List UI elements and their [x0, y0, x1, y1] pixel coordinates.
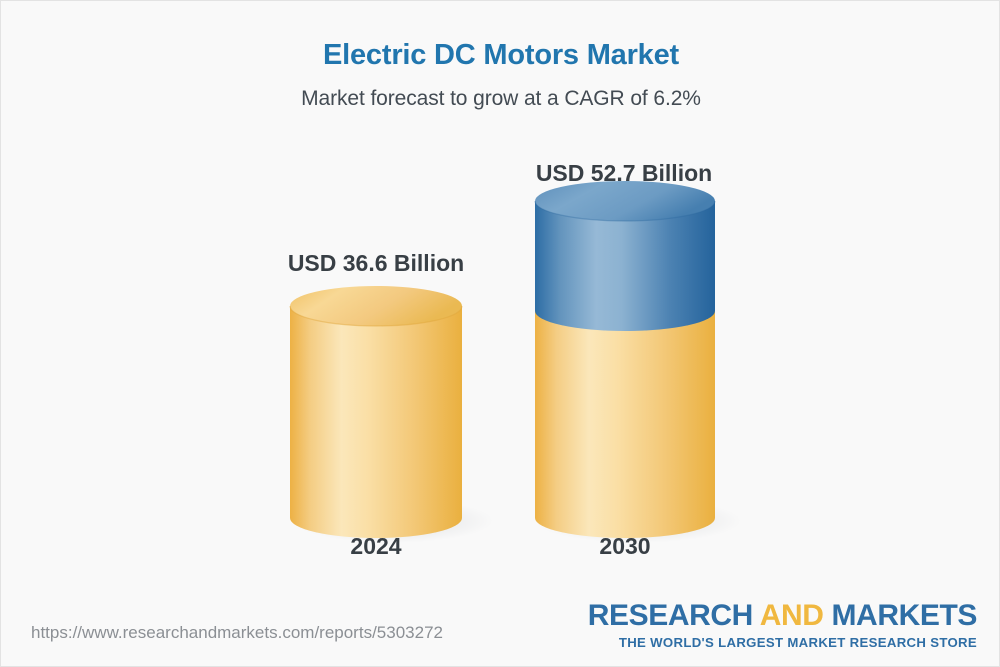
value-label-2030: USD 52.7 Billion [524, 160, 724, 187]
brand-tagline: THE WORLD'S LARGEST MARKET RESEARCH STOR… [588, 636, 977, 649]
value-label-2024: USD 36.6 Billion [276, 250, 476, 277]
page-title: Electric DC Motors Market [1, 1, 1000, 72]
chart-plot-area [1, 131, 1000, 571]
brand-word-research: RESEARCH [588, 599, 760, 632]
header: Electric DC Motors Market Market forecas… [1, 1, 1000, 111]
brand-word-and: AND [760, 599, 824, 632]
brand-word-markets: MARKETS [824, 599, 977, 632]
brand-logo[interactable]: RESEARCH AND MARKETS THE WORLD'S LARGEST… [588, 601, 977, 649]
page-subtitle: Market forecast to grow at a CAGR of 6.2… [1, 72, 1000, 111]
category-label-2030: 2030 [535, 533, 715, 560]
category-label-2024: 2024 [286, 533, 466, 560]
infographic-canvas: Electric DC Motors Market Market forecas… [0, 0, 1000, 667]
brand-name: RESEARCH AND MARKETS [588, 601, 977, 631]
bar-2024[interactable] [290, 286, 462, 538]
bar-2030[interactable] [535, 181, 715, 538]
bar-2030-lower-segment [535, 311, 715, 538]
cylinder-bar-chart [1, 131, 1000, 571]
bar-2024-body [290, 306, 462, 538]
source-url[interactable]: https://www.researchandmarkets.com/repor… [31, 623, 443, 643]
